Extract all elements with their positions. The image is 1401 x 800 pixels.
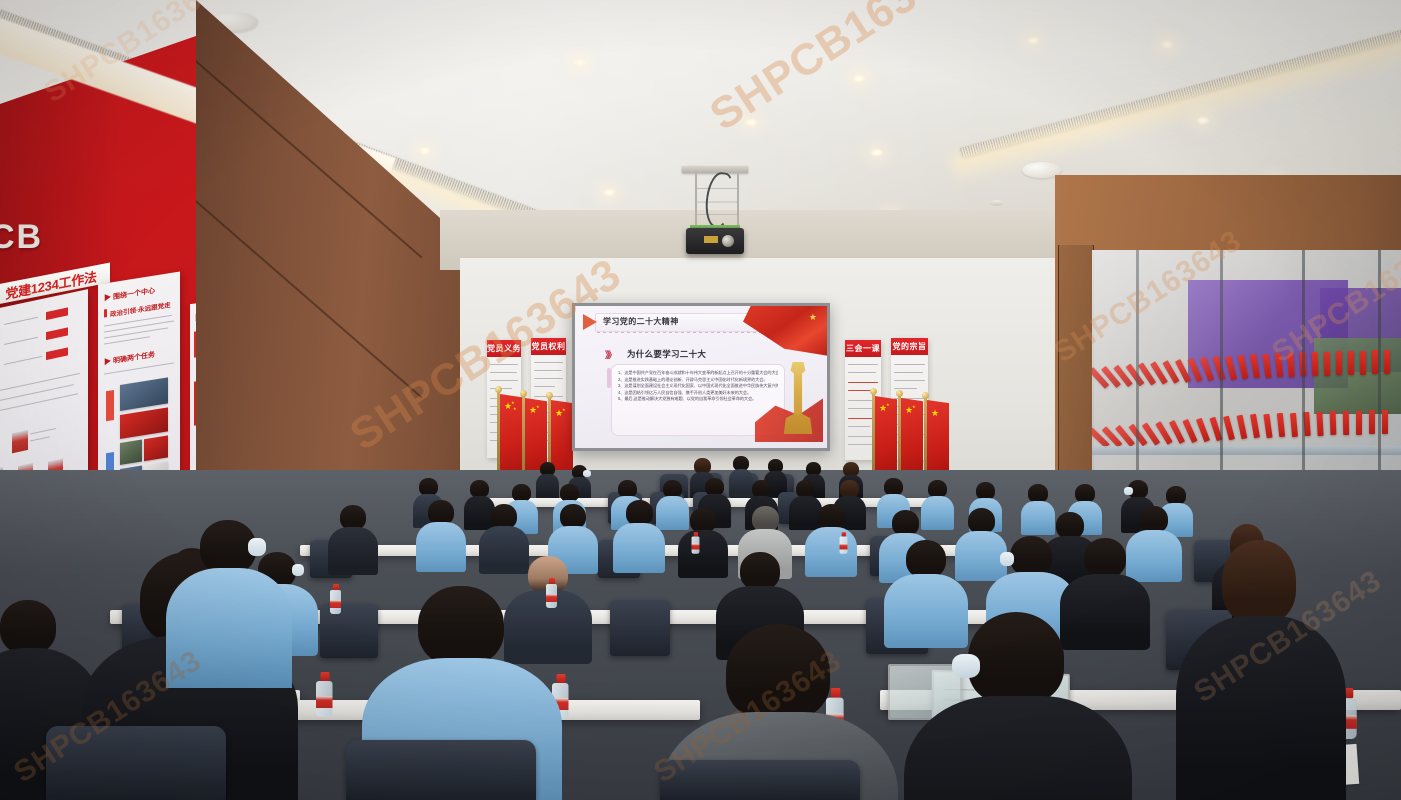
downlight (744, 118, 758, 127)
smoke-detector (990, 200, 1003, 206)
water-bottle (840, 532, 848, 554)
panel-title: 党的宗旨 (893, 341, 927, 352)
downlight (1026, 36, 1040, 45)
flag-finial (922, 392, 929, 399)
panel-title: 党员权利 (532, 341, 566, 352)
downlight (1196, 116, 1210, 125)
chair (610, 600, 670, 656)
flag-finial (870, 388, 877, 395)
meeting-room-photo: CB 党建1234工作法 永远跟党走 ▶ 围绕一个中心 政治引领·永远跟党走 (0, 0, 1401, 800)
water-bottle (316, 672, 333, 717)
chinese-national-flag: ★ ★ ★ (500, 394, 522, 476)
slide-title: 学习党的二十大精神 (603, 316, 679, 327)
projector-lens (722, 235, 734, 247)
flag-finial (520, 390, 527, 397)
projection-screen-frame: 学习党的二十大精神 》》 为什么要学习二十大 1、这是中国共产党在百年奋斗成就和… (572, 303, 830, 451)
water-bottle (330, 584, 341, 614)
projector-lift-plate (682, 166, 748, 173)
water-bottle (692, 532, 700, 554)
slide-bullet: 1、这是中国共产党在百年奋斗成就和十年伟大变革的新起点上召开的十分重要大会的大会… (618, 370, 778, 377)
chinese-national-flag: ★ ★ (901, 398, 923, 478)
chinese-national-flag: ★ ★ (875, 396, 897, 478)
downlight (1160, 40, 1174, 49)
panel-title: 三会一课 (846, 343, 880, 354)
slide-flag-star-icon: ★ (809, 312, 817, 323)
flag-finial (546, 392, 553, 399)
downlight (870, 148, 884, 157)
panel-title: 党员义务 (487, 343, 521, 354)
chair (660, 760, 860, 800)
flag-pole (872, 394, 875, 482)
downlight (418, 146, 432, 155)
flag-finial (495, 386, 502, 393)
downlight (602, 188, 616, 197)
chair (320, 604, 378, 658)
chinese-national-flag: ★ (927, 400, 949, 478)
flag-pole (497, 392, 500, 482)
slide-bullet: 3、这是谋划全面建设社会主义现代化国家、以中国式现代化全面推进中华民族伟大复兴的… (618, 383, 778, 390)
flag-finial (896, 390, 903, 397)
water-bottle (546, 578, 557, 608)
chair (46, 726, 226, 800)
slide-chevron-icon: 》》 (605, 348, 615, 361)
slide-monument-graphic (781, 362, 815, 434)
company-logo: CB (0, 218, 43, 257)
chair (346, 740, 536, 800)
slide-bullet: 5、最后,这是推动解决大党独有难题、以党的自我革命引领社会革命的大会。 (618, 396, 778, 403)
slide-subtitle: 为什么要学习二十大 (627, 348, 706, 360)
downlight (573, 58, 587, 67)
slide-arrow-icon (583, 314, 597, 330)
downlight (852, 74, 866, 83)
projector-label (704, 236, 718, 243)
projection-screen: 学习党的二十大精神 》》 为什么要学习二十大 1、这是中国共产党在百年奋斗成就和… (575, 306, 827, 448)
